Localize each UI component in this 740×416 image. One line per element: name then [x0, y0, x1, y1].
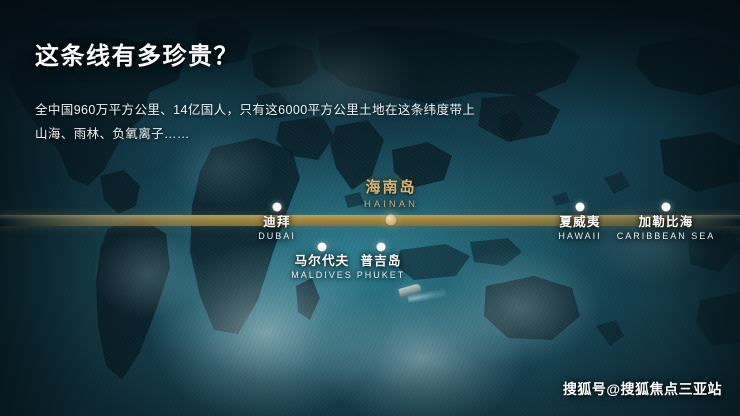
marker-dot-icon[interactable]: [386, 215, 397, 226]
marker-label-cn: 迪拜: [258, 214, 296, 230]
marker-dot-icon[interactable]: [273, 203, 282, 212]
marker-label-group: 迪拜DUBAI: [258, 214, 296, 243]
marker-label-cn: 普吉岛: [357, 253, 406, 269]
marker-dot-icon[interactable]: [662, 203, 671, 212]
headline-block: 这条线有多珍贵？ 全中国960万平方公里、14亿国人，只有这6000平方公里土地…: [35, 41, 555, 146]
marker-label-group: 马尔代夫MALDIVES: [291, 253, 353, 282]
page-title: 这条线有多珍贵？: [35, 41, 555, 73]
marker-label-group: 夏威夷HAWAII: [558, 214, 601, 243]
marker-dot-icon[interactable]: [318, 243, 327, 252]
marker-label-group: 加勒比海CARIBBEAN SEA: [617, 214, 716, 243]
marker-dot-icon[interactable]: [377, 243, 386, 252]
marker-label-cn: 夏威夷: [558, 214, 601, 230]
marker-label-cn: 海南岛: [364, 178, 418, 198]
marker-dot-icon[interactable]: [576, 203, 585, 212]
marker-label-cn: 加勒比海: [617, 214, 716, 230]
marker-label-en: HAWAII: [558, 230, 601, 243]
marker-label-en: MALDIVES: [291, 269, 353, 282]
marker-label-en: CARIBBEAN SEA: [617, 230, 716, 243]
page-subtitle: 全中国960万平方公里、14亿国人，只有这6000平方公里土地在这条纬度带上山海…: [35, 73, 555, 146]
marker-label-group: 海南岛HAINAN: [364, 178, 418, 211]
marker-label-en: PHUKET: [357, 269, 406, 282]
marker-label-cn: 马尔代夫: [291, 253, 353, 269]
marker-label-group: 普吉岛PHUKET: [357, 253, 406, 282]
watermark-text: 搜狐号@搜狐焦点三亚站: [563, 380, 722, 398]
slide-canvas: 这条线有多珍贵？ 全中国960万平方公里、14亿国人，只有这6000平方公里土地…: [0, 0, 740, 416]
marker-label-en: HAINAN: [364, 198, 418, 211]
marker-label-en: DUBAI: [258, 230, 296, 243]
